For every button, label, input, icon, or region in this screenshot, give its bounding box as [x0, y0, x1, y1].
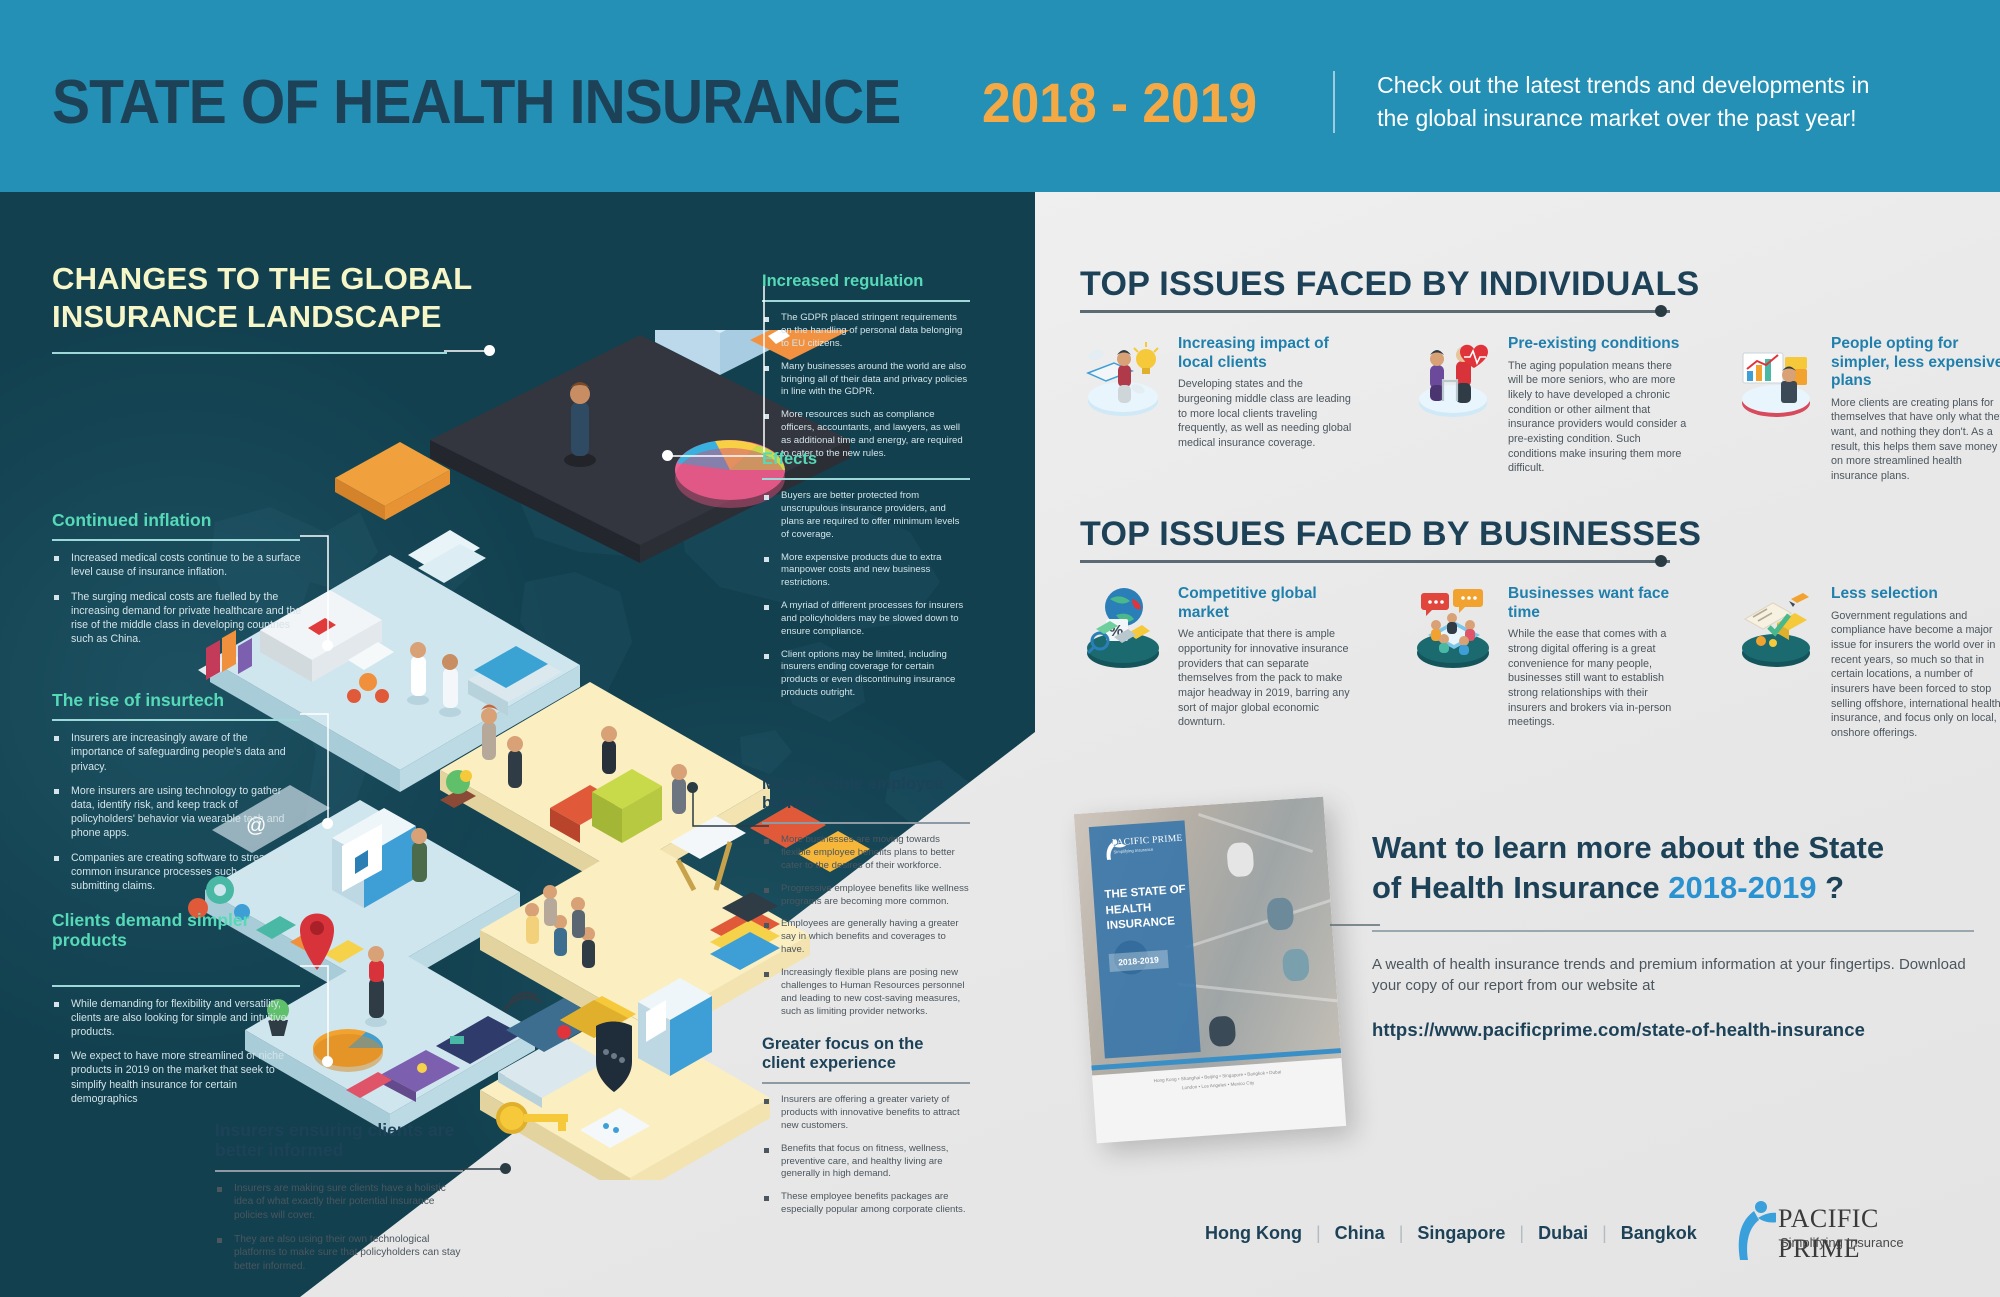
footer-city-bangkok: Bangkok: [1621, 1223, 1697, 1244]
block-more-flexible-employee-benefits: More flexible employee benefits More bus…: [762, 775, 970, 1028]
cta-body: A wealth of health insurance trends and …: [1372, 954, 1972, 998]
block-title: Increased regulation: [762, 272, 970, 291]
block-rise-of-insurtech: The rise of insurtech Insurers are incre…: [52, 690, 300, 903]
bullet-item: The surging medical costs are fuelled by…: [52, 590, 302, 647]
connector-increased-regulation: [660, 284, 770, 464]
bullet-item: Increasingly flexible plans are posing n…: [762, 967, 970, 1018]
issue-title: Less selection: [1831, 585, 2000, 604]
individuals-rule-dot: [1655, 305, 1667, 317]
businesses-heading-rule: [1080, 560, 1670, 563]
bullet-item: Buyers are better protected from unscrup…: [762, 490, 970, 541]
issue-body: We anticipate that there is ample opport…: [1178, 627, 1358, 730]
footer-city-dubai: Dubai: [1538, 1223, 1588, 1244]
iso-slab-security: [480, 978, 770, 1180]
footer-separator: |: [1519, 1223, 1524, 1244]
block-continued-inflation: Continued inflation Increased medical co…: [52, 510, 302, 656]
bullet-item: Progressive employee benefits like welln…: [762, 883, 970, 909]
issue-title: Pre-existing conditions: [1508, 335, 1688, 354]
connector-insurers-informed: [460, 1163, 520, 1177]
block-rule: [52, 985, 300, 987]
issue-body: More clients are creating plans for them…: [1831, 396, 2000, 484]
businesses-rule-dot: [1655, 555, 1667, 567]
connector-dot-4: [662, 450, 673, 461]
report-cover-footer-line1: Hong Kong • Shanghai • Beijing • Singapo…: [1153, 1069, 1281, 1083]
connector-dot-2: [322, 818, 333, 829]
issue-pre-existing-conditions: Pre-existing conditions The aging popula…: [1410, 335, 1688, 476]
connector-continued-inflation: [298, 534, 338, 654]
block-bullets: Insurers are offering a greater variety …: [762, 1094, 970, 1217]
connector-flexible-benefits: [685, 786, 775, 836]
issue-body: Government regulations and compliance ha…: [1831, 609, 2000, 741]
block-rule: [52, 539, 300, 541]
bullet-item: They are also using their own technologi…: [215, 1233, 463, 1274]
bullet-item: The GDPR placed stringent requirements o…: [762, 312, 970, 351]
block-increased-regulation: Increased regulation The GDPR placed str…: [762, 272, 970, 471]
bullet-item: Companies are creating software to strea…: [52, 851, 300, 894]
bullet-item: More businesses are moving towards flexi…: [762, 834, 970, 873]
page-title-years: 2018 - 2019: [982, 70, 1257, 135]
footer-city-singapore: Singapore: [1417, 1223, 1505, 1244]
cta-block: Want to learn more about the State of He…: [1372, 828, 1972, 1041]
footer-separator: |: [1316, 1223, 1321, 1244]
block-bullets: Increased medical costs continue to be a…: [52, 551, 302, 646]
footer-city-china: China: [1335, 1223, 1385, 1244]
connector-dot-heading: [484, 345, 495, 356]
issue-title: People opting for simpler, less expensiv…: [1831, 335, 2000, 391]
issue-competitive-global-market: % Competitive global market We anticipat…: [1080, 585, 1358, 730]
cta-heading: Want to learn more about the State of He…: [1372, 828, 1972, 909]
block-rule: [762, 300, 970, 302]
pacific-prime-mark-icon: [1730, 1200, 1776, 1262]
checklist-pencil-icon: [1733, 585, 1819, 671]
issue-title: Competitive global market: [1178, 585, 1358, 622]
block-rule: [762, 478, 970, 480]
block-bullets: More businesses are moving towards flexi…: [762, 834, 970, 1018]
bullet-item: A myriad of different processes for insu…: [762, 600, 970, 639]
left-heading-underline: [52, 352, 447, 354]
block-title: Insurers ensuring clients are better inf…: [215, 1120, 463, 1161]
bullet-item: Many businesses around the world are als…: [762, 361, 970, 400]
footer-separator: |: [1602, 1223, 1607, 1244]
block-greater-focus-client-experience: Greater focus on the client experience I…: [762, 1035, 970, 1227]
block-bullets: Buyers are better protected from unscrup…: [762, 490, 970, 700]
block-insurers-ensuring-clients-informed: Insurers ensuring clients are better inf…: [215, 1120, 463, 1284]
issue-body: The aging population means there will be…: [1508, 359, 1688, 476]
footer-cities: Hong Kong | China | Singapore | Dubai | …: [1205, 1223, 1697, 1244]
report-cover-years-badge: 2018-2019: [1109, 950, 1169, 972]
connector-dot-1: [322, 640, 333, 651]
senior-care-heart-icon: [1410, 335, 1496, 421]
traveler-lightbulb-icon: [1080, 335, 1166, 421]
globe-percent-icon: %: [1080, 585, 1166, 671]
businesses-heading: TOP ISSUES FACED BY BUSINESSES: [1080, 515, 1701, 554]
cta-heading-line1: Want to learn more about the State: [1372, 830, 1884, 865]
bullet-item: Insurers are offering a greater variety …: [762, 1094, 970, 1133]
bullet-item: Insurers are increasingly aware of the i…: [52, 731, 300, 774]
meeting-chat-icon: [1410, 585, 1496, 671]
issue-title: Businesses want face time: [1508, 585, 1688, 622]
bullet-item: These employee benefits packages are esp…: [762, 1191, 970, 1217]
block-bullets: While demanding for flexibility and vers…: [52, 997, 300, 1106]
block-bullets: Insurers are making sure clients have a …: [215, 1182, 463, 1274]
bullet-item: More insurers are using technology to ga…: [52, 784, 300, 841]
bullet-item: Insurers are making sure clients have a …: [215, 1182, 463, 1223]
connector-dot-3: [322, 1056, 333, 1067]
block-title: Greater focus on the client experience: [762, 1035, 970, 1073]
issue-body: Developing states and the burgeoning mid…: [1178, 377, 1358, 450]
cta-heading-years: 2018-2019: [1668, 870, 1816, 905]
bullet-item: While demanding for flexibility and vers…: [52, 997, 300, 1040]
block-clients-demand-simpler-products: Clients demand simpler products While de…: [52, 910, 300, 1116]
block-title: Continued inflation: [52, 510, 302, 530]
connector-dot-5: [687, 782, 698, 793]
logo-tagline: Simplifying Insurance: [1780, 1235, 1904, 1250]
report-cover-band: PACIFIC PRIME Simplifying Insurance THE …: [1089, 820, 1201, 1058]
header-subtitle: Check out the latest trends and developm…: [1377, 69, 1897, 134]
block-title: Clients demand simpler products: [52, 910, 300, 951]
page-title: STATE OF HEALTH INSURANCE: [52, 67, 900, 138]
bullet-item: Employees are generally having a greater…: [762, 918, 970, 957]
pacific-prime-logo: PACIFIC PRIME Simplifying Insurance: [1730, 1200, 1950, 1266]
connector-rise-of-insurtech: [298, 712, 338, 832]
report-cover-footer-line2: London • Los Angeles • Mexico City: [1182, 1080, 1255, 1090]
bullet-item: Increased medical costs continue to be a…: [52, 551, 302, 579]
cta-url[interactable]: https://www.pacificprime.com/state-of-he…: [1372, 1019, 1972, 1041]
cta-heading-line2-pre: of Health Insurance: [1372, 870, 1668, 905]
connector-dot-6: [500, 1163, 511, 1174]
bullet-item: More expensive products due to extra man…: [762, 552, 970, 591]
issue-increasing-impact-local-clients: Increasing impact of local clients Devel…: [1080, 335, 1358, 451]
issue-body: While the ease that comes with a strong …: [1508, 627, 1688, 730]
report-cover-title: THE STATE OF HEALTH INSURANCE: [1104, 882, 1191, 934]
header-divider: [1333, 71, 1335, 133]
issue-less-selection: Less selection Government regulations an…: [1733, 585, 2000, 741]
left-heading-line1: CHANGES TO THE GLOBAL: [52, 261, 472, 296]
page-header: STATE OF HEALTH INSURANCE 2018 - 2019 Ch…: [0, 0, 2000, 192]
issue-people-opting-simpler-plans: People opting for simpler, less expensiv…: [1733, 335, 2000, 484]
individuals-heading-rule: [1080, 310, 1670, 313]
issue-title: Increasing impact of local clients: [1178, 335, 1358, 372]
individuals-heading: TOP ISSUES FACED BY INDIVIDUALS: [1080, 265, 1700, 304]
connector-clients-demand: [298, 964, 338, 1070]
connector-heading: [444, 338, 504, 362]
logo-name: PACIFIC PRIME: [1778, 1204, 1950, 1264]
bullet-item: Client options may be limited, including…: [762, 649, 970, 700]
block-bullets: Insurers are increasingly aware of the i…: [52, 731, 300, 893]
block-effects: Effects Buyers are better protected from…: [762, 450, 970, 710]
report-cover-mockup: PACIFIC PRIME Simplifying Insurance THE …: [1074, 797, 1346, 1144]
block-title: More flexible employee benefits: [762, 775, 970, 813]
block-rule: [52, 719, 300, 721]
block-rule: [762, 1082, 970, 1084]
left-heading-line2: INSURANCE LANDSCAPE: [52, 299, 442, 334]
footer-separator: |: [1399, 1223, 1404, 1244]
block-bullets: The GDPR placed stringent requirements o…: [762, 312, 970, 460]
cta-rule: [1372, 930, 1974, 932]
block-title: The rise of insurtech: [52, 690, 300, 710]
issue-businesses-want-face-time: Businesses want face time While the ease…: [1410, 585, 1688, 730]
left-section-heading: CHANGES TO THE GLOBAL INSURANCE LANDSCAP…: [52, 260, 482, 354]
cta-heading-line2-post: ?: [1817, 870, 1845, 905]
block-rule: [215, 1170, 463, 1172]
block-title: Effects: [762, 450, 970, 469]
chart-plan-icon: [1733, 335, 1819, 421]
bullet-item: Benefits that focus on fitness, wellness…: [762, 1143, 970, 1182]
block-rule: [762, 822, 970, 824]
footer-city-hong-kong: Hong Kong: [1205, 1223, 1302, 1244]
bullet-item: We expect to have more streamlined or ni…: [52, 1049, 300, 1106]
